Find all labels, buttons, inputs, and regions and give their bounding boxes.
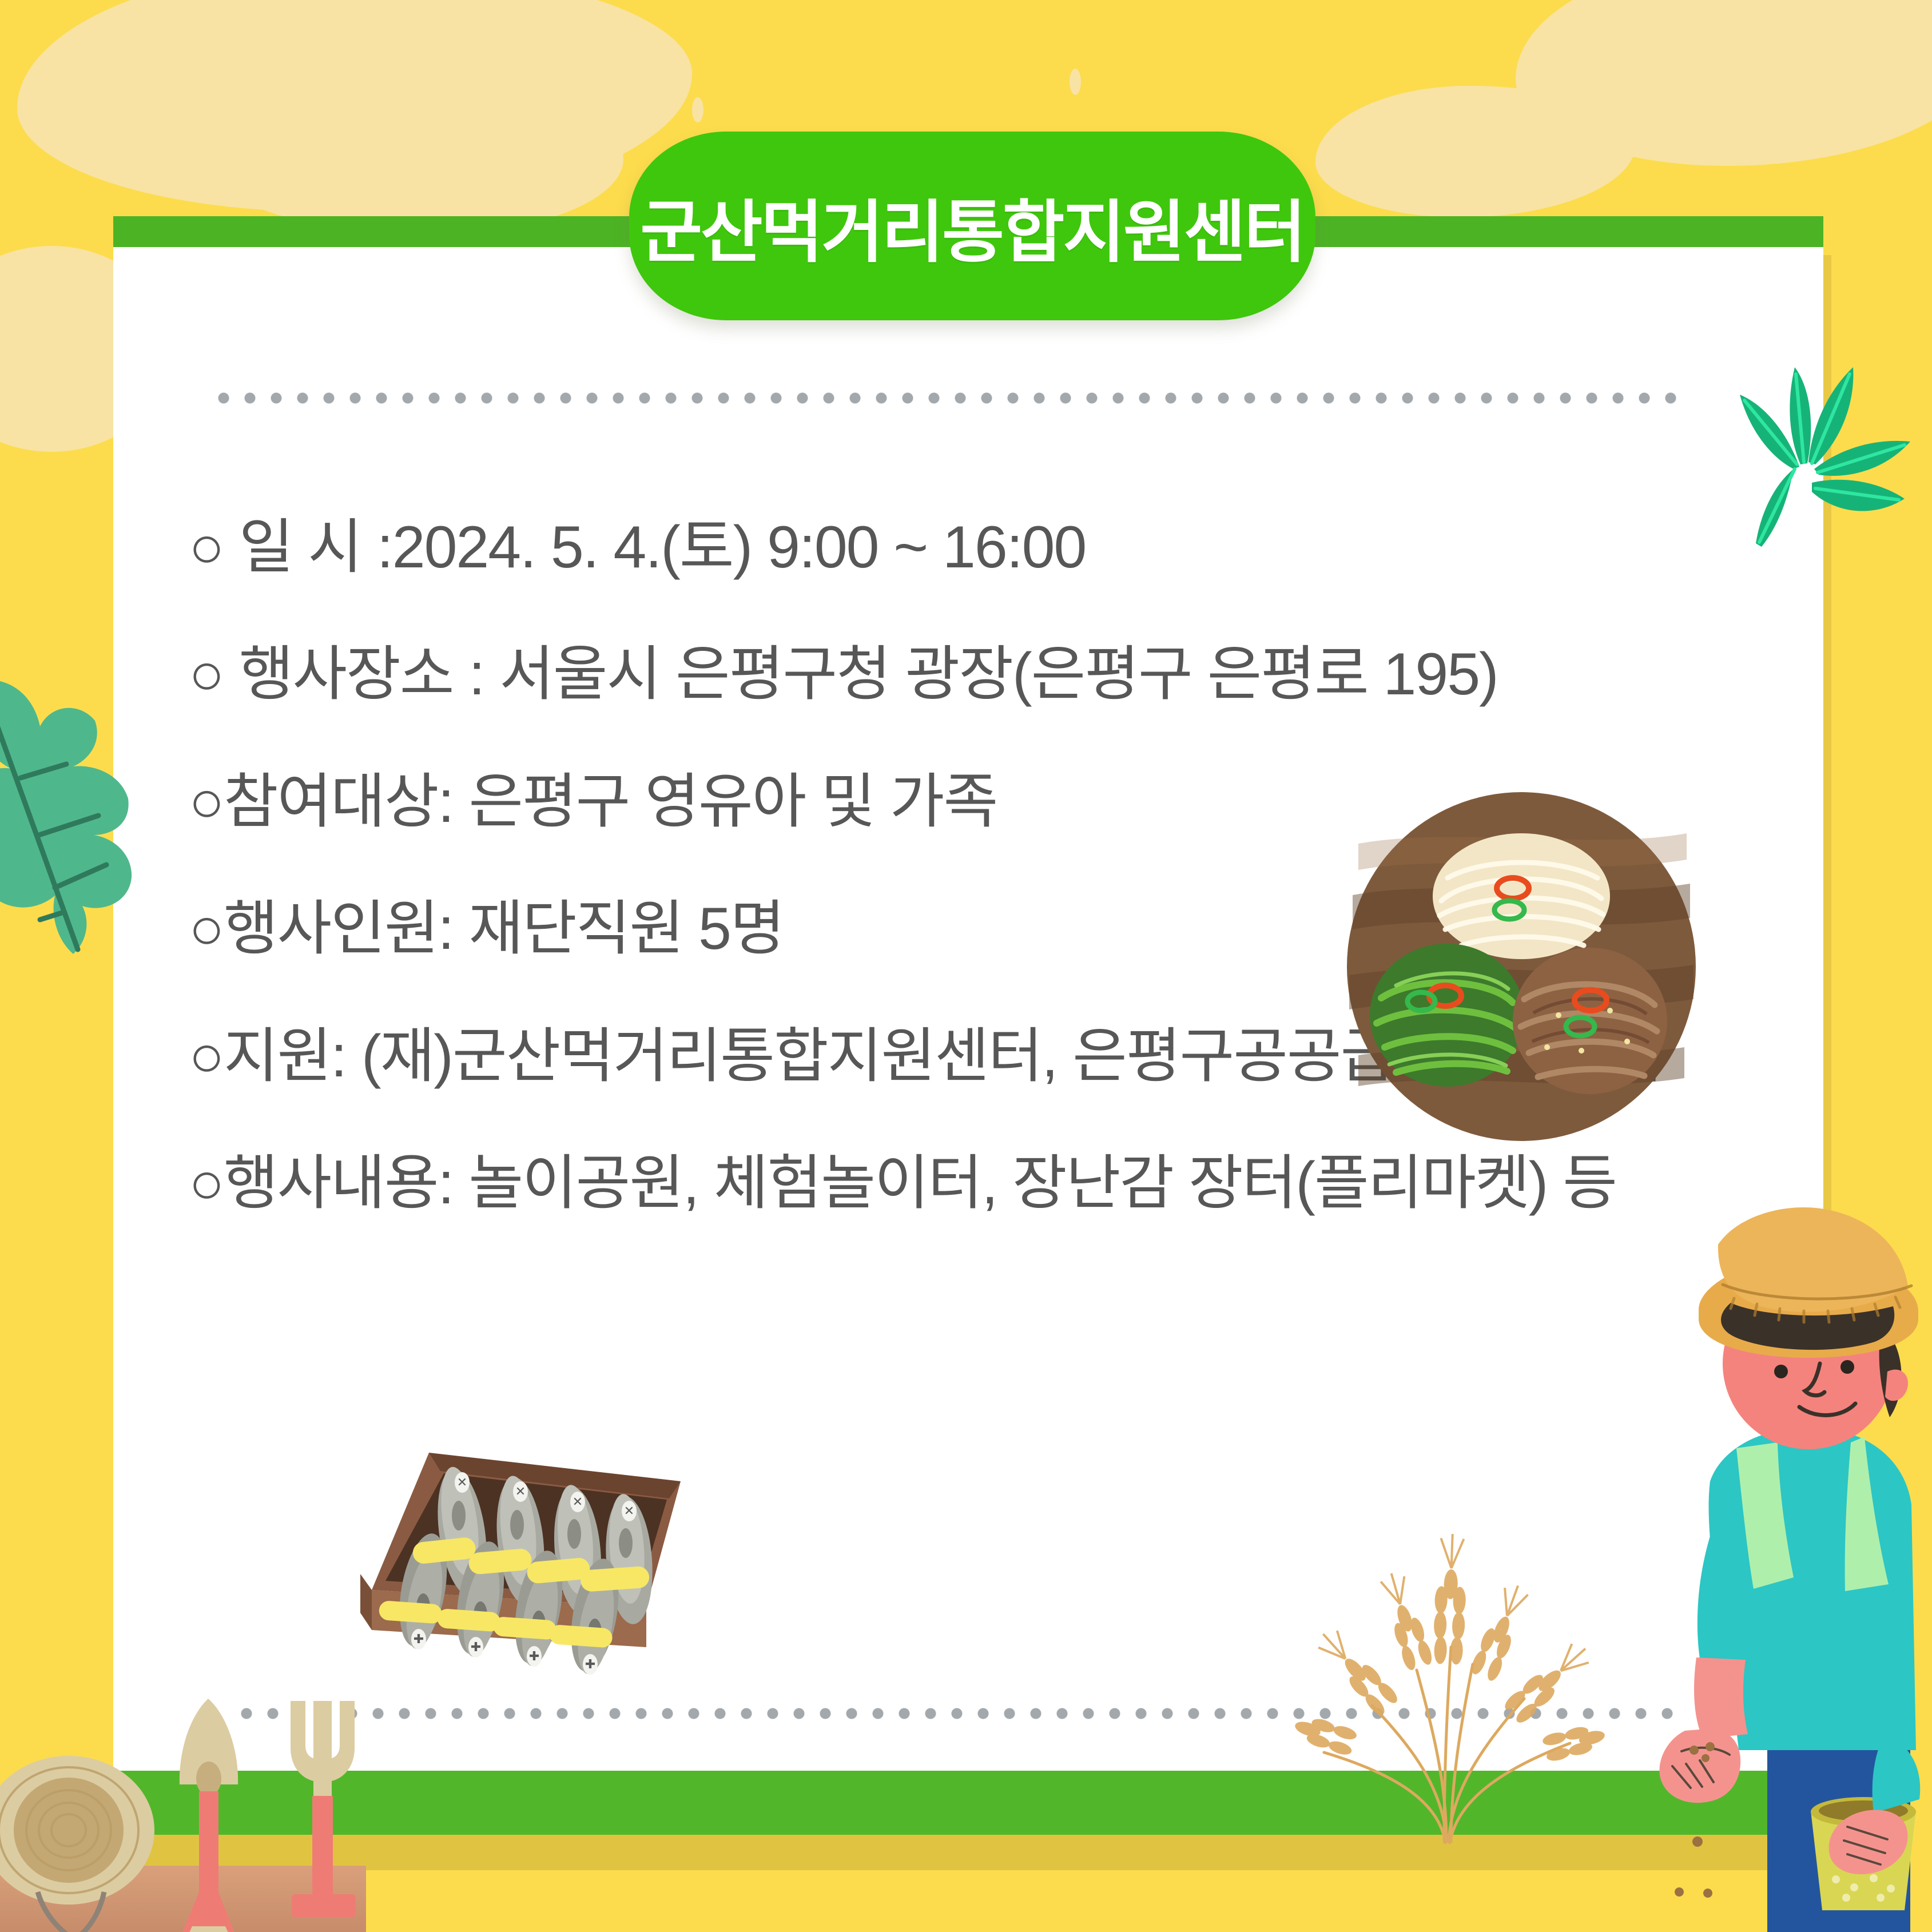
svg-text:✕: ✕ (515, 1484, 526, 1498)
detail-line-date: ○ 일 시 :2024. 5. 4.(토) 9:00 ~ 16:00 (189, 515, 1744, 580)
background-speck (1070, 69, 1081, 95)
event-poster: 군산먹거리통합지원센터 ○ 일 시 :2024. 5. 4.(토) 9:00 ~… (0, 0, 1932, 1932)
divider-dotted-top (217, 392, 1681, 404)
oak-leaf-icon (0, 663, 194, 961)
farmer-sowing-seeds-icon (1596, 1235, 1932, 1932)
page-title: 군산먹거리통합지원센터 (640, 177, 1304, 275)
background-speck (1453, 172, 1464, 197)
background-cloud-blob (1315, 86, 1636, 217)
garden-tools-icon (0, 1693, 406, 1932)
svg-text:✚: ✚ (585, 1657, 595, 1671)
svg-text:✚: ✚ (471, 1640, 481, 1654)
dried-fish-crate-icon: ✕ ✕ ✕ (337, 1418, 738, 1704)
svg-text:✕: ✕ (624, 1504, 634, 1518)
background-speck (692, 97, 703, 122)
svg-text:✚: ✚ (414, 1632, 424, 1646)
noodle-plate-icon (1341, 786, 1702, 1147)
background-speck (1704, 97, 1715, 120)
wheat-stalks-icon (1250, 1544, 1650, 1847)
svg-text:✕: ✕ (457, 1475, 467, 1489)
svg-text:✚: ✚ (529, 1649, 539, 1663)
svg-text:✕: ✕ (573, 1494, 583, 1509)
background-speck (355, 143, 367, 170)
leaf-sprig-icon (1659, 297, 1932, 549)
title-badge: 군산먹거리통합지원센터 (629, 132, 1315, 320)
detail-line-venue: ○ 행사장소 : 서울시 은평구청 광장(은평구 은평로 195) (189, 642, 1744, 707)
detail-line-program: ○행사내용: 놀이공원, 체험놀이터, 장난감 장터(플리마켓) 등 (189, 1151, 1744, 1216)
